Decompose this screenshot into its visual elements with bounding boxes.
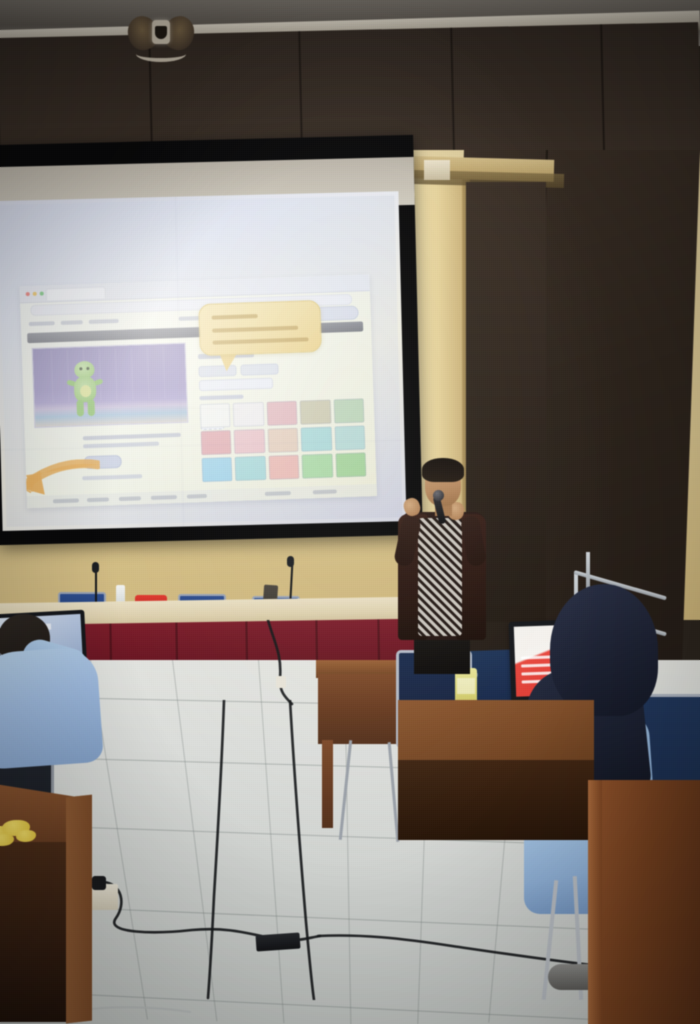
callout-bubble: [198, 300, 322, 356]
gallery-thumb: [267, 428, 298, 453]
gallery-thumb: [268, 455, 299, 480]
presenter-person: [392, 462, 492, 672]
gallery-thumb: [235, 456, 266, 481]
turtle-character-icon: [67, 361, 103, 420]
foreground-desk-right: [588, 780, 700, 1024]
gallery-thumb: [333, 398, 364, 423]
power-plug-icon: [92, 876, 106, 890]
app-primary-button: [314, 306, 358, 322]
hijab-head-covering: [550, 584, 658, 716]
foreground-desk-left: [0, 790, 90, 1024]
gallery-thumb: [302, 454, 333, 479]
gallery-thumb: [202, 457, 233, 482]
gallery-thumb: [233, 402, 264, 427]
gallery-thumb: [335, 452, 366, 477]
orange-arrow-icon: [19, 459, 100, 502]
gallery-thumb: [266, 401, 297, 426]
app-description-line-1: [83, 433, 181, 440]
browser-tab: [46, 286, 106, 300]
microphone-head-icon: [287, 556, 294, 567]
gallery-thumb: [334, 425, 365, 450]
participant-left-person: [0, 614, 106, 814]
gallery-thumb: [301, 427, 332, 452]
gallery-thumb: [234, 429, 265, 454]
photo-scene: Workshop presentation in a school hall I…: [0, 0, 700, 1024]
bottle-label: [457, 678, 475, 694]
callout-line-3: [212, 337, 308, 344]
wall-mounted-box: [424, 160, 450, 180]
batik-shirt-pattern: [418, 518, 462, 636]
callout-line-1: [212, 314, 258, 320]
hanging-cable: [260, 620, 320, 706]
callout-line-2: [212, 326, 298, 333]
gallery-thumb: [300, 400, 331, 425]
power-adapter-brick: [255, 932, 300, 951]
projection-surface: [0, 191, 406, 531]
snack-crackers: [0, 820, 38, 846]
panel-section-label: [199, 395, 243, 401]
garuda-emblem-icon: [128, 6, 194, 66]
projection-screen: [0, 135, 423, 545]
projected-browser-window: [19, 274, 377, 508]
panel-input-field: [199, 378, 273, 392]
cable-clip: [276, 676, 286, 688]
animation-stage-canvas: [32, 343, 189, 428]
center-wood-bench-front: [398, 760, 594, 840]
microphone-head-icon: [92, 562, 99, 573]
